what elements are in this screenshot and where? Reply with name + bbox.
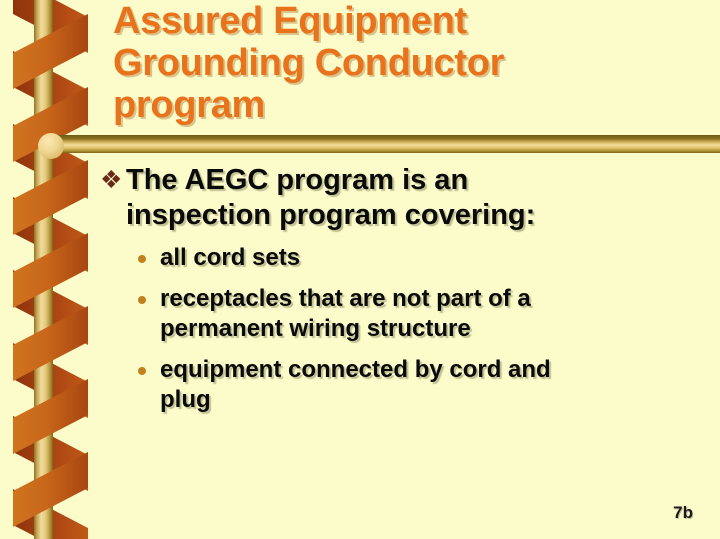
bullet-text-level2: all cord sets (160, 243, 710, 273)
round-dot-bullet-icon (138, 243, 160, 263)
content-body: ❖ The AEGC program is an inspection prog… (100, 163, 710, 426)
bullet-text-level2: equipment connected by cord and plug (160, 355, 710, 415)
list-item: equipment connected by cord and plug (138, 355, 710, 415)
title-divider-bar (46, 135, 720, 157)
title-block: Assured Equipment Grounding Conductor pr… (113, 0, 713, 126)
list-item: receptacles that are not part of a perma… (138, 284, 710, 344)
spiral-ribbon-svg (0, 0, 100, 539)
page-number-label: 7b (673, 503, 693, 523)
bullet-text-level2: receptacles that are not part of a perma… (160, 284, 710, 344)
divider-knob (38, 133, 64, 159)
list-item: all cord sets (138, 243, 710, 273)
slide-canvas: Assured Equipment Grounding Conductor pr… (0, 0, 720, 539)
round-dot-bullet-icon (138, 355, 160, 375)
spiral-ribbon-ornament (0, 0, 100, 539)
diamond-clover-bullet-icon: ❖ (100, 163, 126, 197)
list-item: ❖ The AEGC program is an inspection prog… (100, 163, 710, 233)
sub-bullet-list: all cord sets receptacles that are not p… (100, 243, 710, 415)
divider-gold-band (46, 139, 720, 153)
page-title: Assured Equipment Grounding Conductor pr… (113, 0, 713, 126)
round-dot-bullet-icon (138, 284, 160, 304)
bullet-text-level1: The AEGC program is an inspection progra… (126, 163, 710, 233)
